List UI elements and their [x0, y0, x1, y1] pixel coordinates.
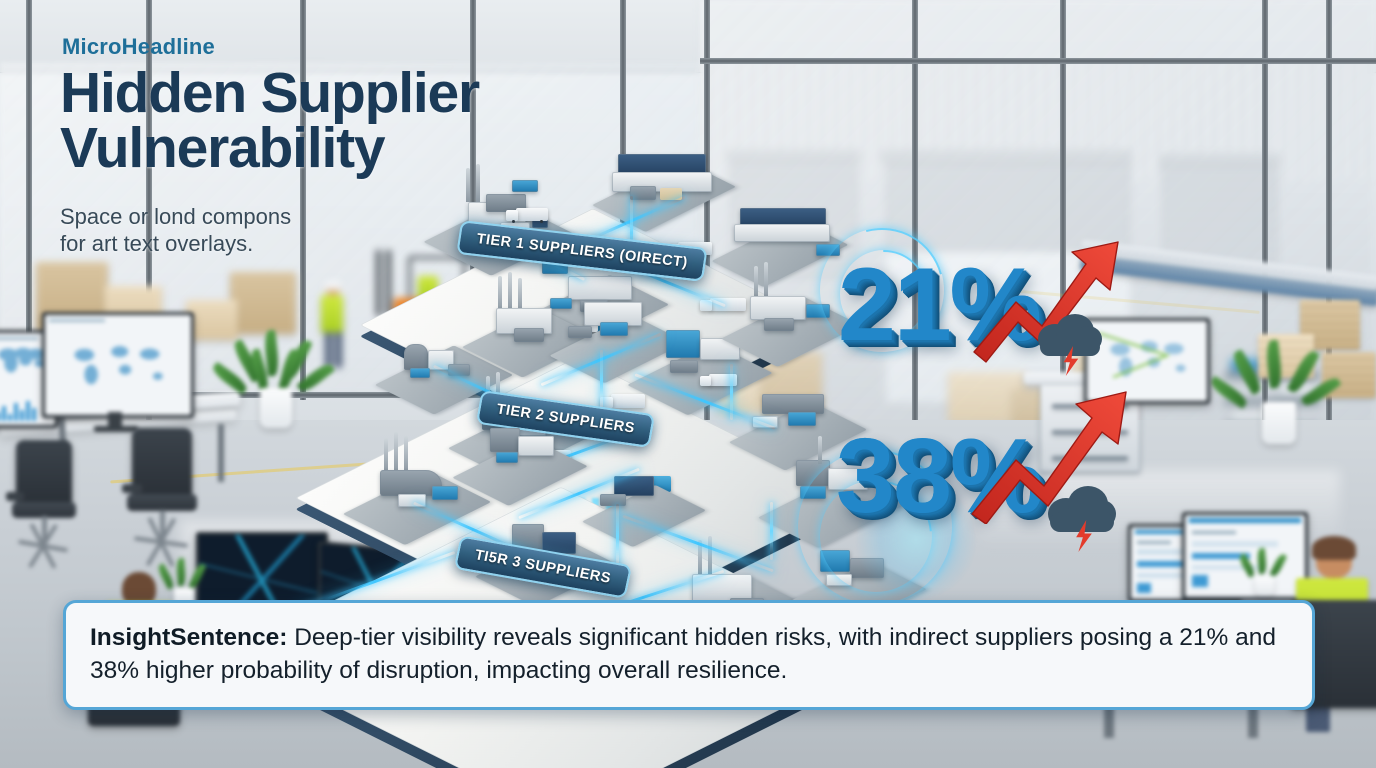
title-line-2: Vulnerability: [60, 116, 384, 180]
insight-caption-text: InsightSentence: Deep-tier visibility re…: [90, 622, 1288, 688]
stat-21: 21%: [838, 258, 1040, 354]
potted-plant: [1238, 340, 1316, 466]
headline-block: MicroHeadline Hidden Supplier Vulnerabil…: [60, 34, 620, 258]
page-title: Hidden Supplier Vulnerability: [60, 66, 620, 177]
insight-caption-box: InsightSentence: Deep-tier visibility re…: [63, 600, 1315, 710]
subtitle-line-1: Space or lond compons: [60, 204, 291, 229]
infographic-canvas: TIER 1 SUPPLIERS (OIRECT): [0, 0, 1376, 768]
subtitle-line-2: for art text overlays.: [60, 231, 253, 256]
insight-caption-label: InsightSentence:: [90, 624, 287, 651]
office-chair: [8, 440, 86, 570]
stat-38: 38%: [836, 428, 1042, 526]
monitor: [42, 312, 194, 418]
storm-cloud-icon: [1044, 480, 1120, 546]
world-map-screen: [45, 315, 191, 415]
storm-cloud-icon: [1034, 308, 1106, 370]
potted-plant: [1244, 548, 1282, 602]
subtitle-block: Space or lond compons for art text overl…: [60, 203, 620, 258]
eyebrow-text: MicroHeadline: [62, 34, 620, 60]
